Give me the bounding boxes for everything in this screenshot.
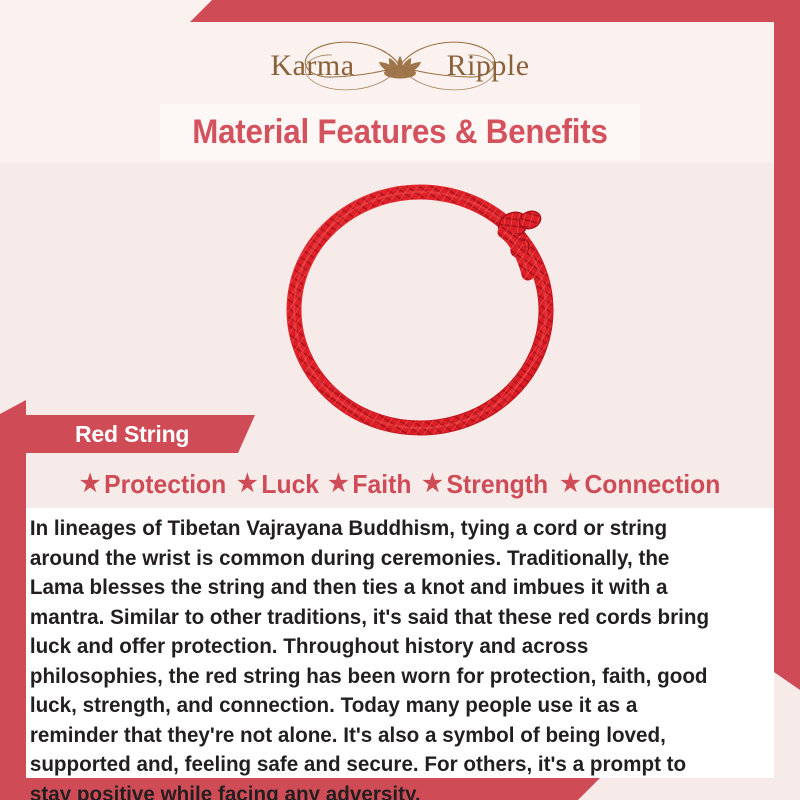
logo-word-karma: Karma bbox=[270, 51, 354, 81]
material-banner: Red String bbox=[20, 415, 255, 453]
logo-word-ripple: Ripple bbox=[447, 51, 530, 81]
feature-item-luck: ★ Luck bbox=[237, 469, 319, 500]
feature-item-faith: ★ Faith bbox=[328, 469, 411, 500]
feature-label: Protection bbox=[104, 469, 226, 500]
page-title: Material Features & Benefits bbox=[179, 104, 621, 160]
feature-list: ★ Protection ★ Luck ★ Faith ★ Strength ★… bbox=[26, 462, 774, 506]
feature-item-connection: ★ Connection bbox=[560, 469, 720, 500]
lotus-icon bbox=[379, 56, 421, 79]
star-icon: ★ bbox=[328, 472, 348, 496]
star-icon: ★ bbox=[79, 472, 99, 496]
feature-label: Connection bbox=[584, 469, 720, 500]
star-icon: ★ bbox=[422, 472, 442, 496]
decorative-right-bar bbox=[774, 0, 800, 690]
feature-item-protection: ★ Protection bbox=[79, 469, 225, 500]
feature-label: Faith bbox=[352, 469, 411, 500]
feature-label: Luck bbox=[261, 469, 319, 500]
description-paragraph: In lineages of Tibetan Vajrayana Buddhis… bbox=[26, 508, 744, 800]
brand-logo: Karma Ripple bbox=[0, 32, 800, 100]
product-image-red-string-bracelet bbox=[280, 170, 580, 440]
feature-item-strength: ★ Strength bbox=[422, 469, 548, 500]
decorative-left-bar bbox=[0, 400, 26, 800]
infographic-page: Karma Ripple Material Features & Benefit… bbox=[0, 0, 800, 800]
bracelet-illustration-icon bbox=[280, 170, 580, 440]
star-icon: ★ bbox=[560, 472, 580, 496]
material-banner-label: Red String bbox=[75, 421, 189, 448]
feature-label: Strength bbox=[446, 469, 548, 500]
star-icon: ★ bbox=[237, 472, 257, 496]
